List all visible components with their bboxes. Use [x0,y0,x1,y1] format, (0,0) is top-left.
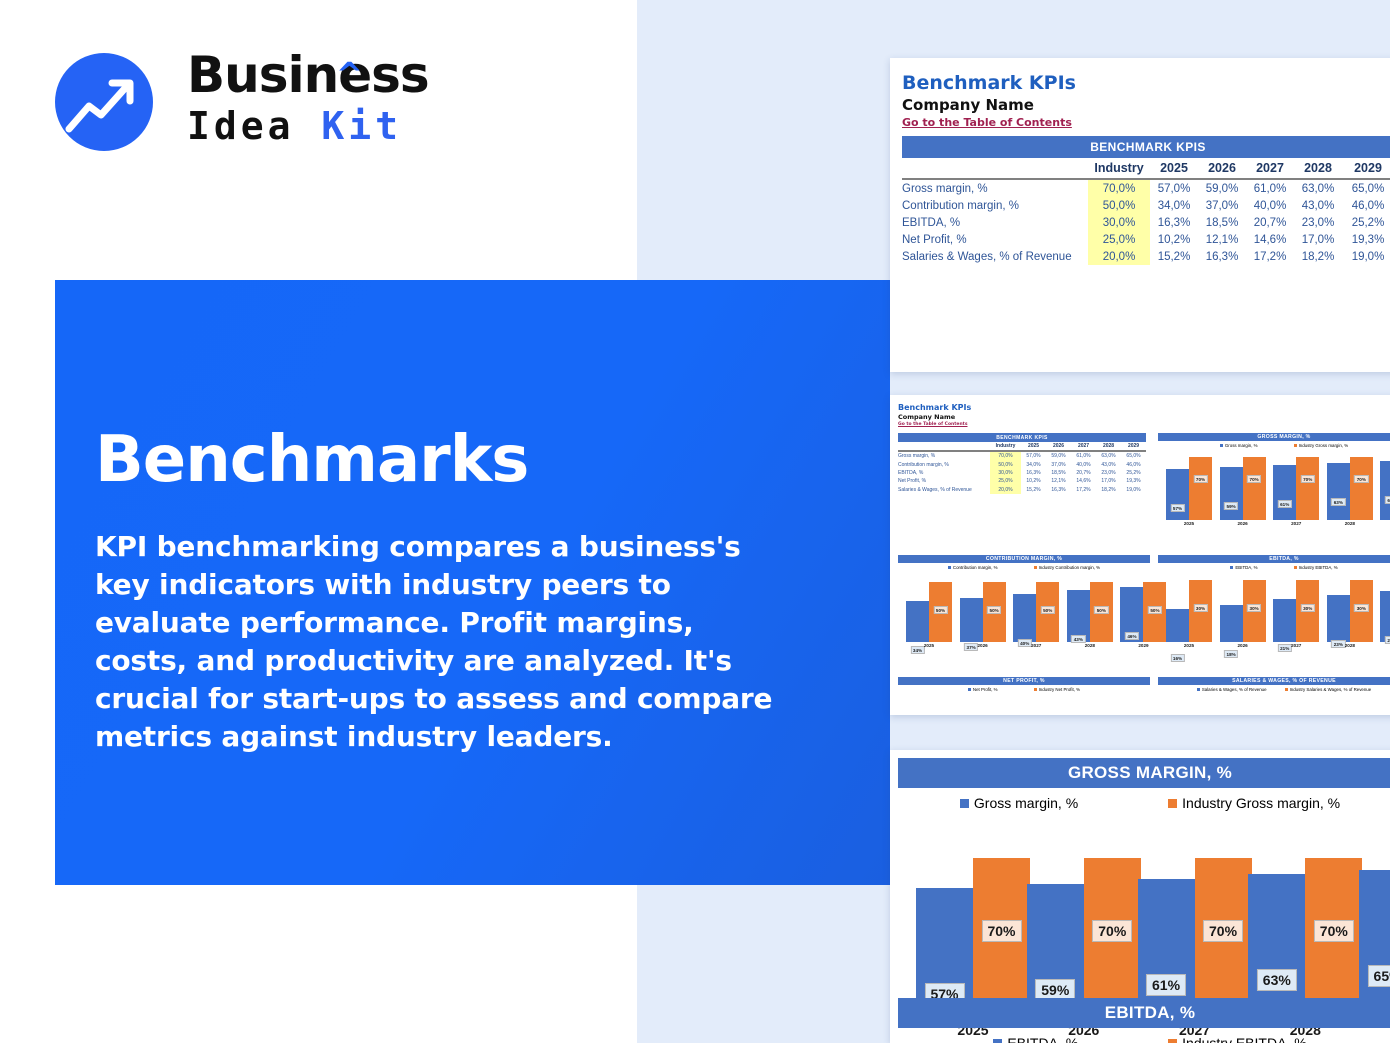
sheet-subheading: Company Name [898,413,971,421]
chart-legend: EBITDA, % Industry EBITDA, % [898,1028,1390,1043]
bar-company[interactable]: 43% [1067,590,1090,642]
row-label: Contribution margin, % [898,460,990,468]
brand-word-idea: Idea [187,104,295,148]
row-label: Salaries & Wages, % of Revenue [898,486,990,494]
x-axis-tick-label: 2025 [906,643,952,648]
legend-item-series-2[interactable]: Industry Gross margin, % [1168,795,1340,811]
row-label: Gross margin, % [902,179,1088,197]
x-axis-tick-label: 2026 [960,643,1006,648]
cell-2027: 14,6% [1071,477,1096,485]
bar-data-label: 46% [1125,632,1139,640]
legend-label: Industry EBITDA, % [1182,1035,1306,1043]
cell-2027: 40,0% [1071,460,1096,468]
legend-item-series-2[interactable]: Industry EBITDA, % [1168,1035,1306,1043]
cell-industry: 30,0% [990,469,1021,477]
bar-data-label: 30% [1247,604,1261,612]
cell-industry: 70,0% [990,451,1021,460]
bar-group: 21%30% [1273,570,1319,642]
chart-legend: Salaries & Wages, % of Revenue Industry … [1158,685,1390,692]
bar-data-label: 70% [1314,920,1354,942]
legend-swatch-blue-icon [1230,566,1233,569]
bar-company[interactable]: 37% [960,598,983,642]
hero-panel: Benchmarks KPI benchmarking compares a b… [55,280,890,885]
legend-swatch-orange-icon [1168,799,1177,808]
col-header-industry: Industry [990,442,1021,451]
bar-company[interactable]: 18% [1220,605,1243,642]
row-label: Salaries & Wages, % of Revenue [902,248,1088,265]
legend-swatch-orange-icon [1285,688,1288,691]
legend-item-series-2[interactable]: Industry Net Profit, % [1034,687,1080,692]
cell-2027: 40,0% [1246,197,1294,214]
col-header-2025: 2025 [1150,158,1198,179]
bar-industry[interactable]: 50% [983,582,1006,642]
chart-title: SALARIES & WAGES, % OF REVENUE [1158,677,1390,685]
cell-industry: 20,0% [1088,248,1150,265]
cell-industry: 70,0% [1088,179,1150,197]
legend-label: Industry Gross margin, % [1182,795,1340,811]
cell-2027: 14,6% [1246,231,1294,248]
chart-contribution-margin-mini[interactable]: CONTRIBUTION MARGIN, % Contribution marg… [898,555,1150,652]
growth-chart-icon [55,53,153,151]
benchmark-kpi-table-mini[interactable]: BENCHMARK KPIS Industry 2025 2026 2027 2… [898,433,1146,494]
chart-title: EBITDA, % [1158,555,1390,563]
cell-2026: 37,0% [1046,460,1071,468]
bar-industry[interactable]: 30% [1350,580,1373,642]
row-label: Net Profit, % [902,231,1088,248]
table-of-contents-link[interactable]: Go to the Table of Contents [898,422,971,427]
chart-ebitda-large-partial[interactable]: EBITDA, % EBITDA, % Industry EBITDA, % [898,998,1390,1043]
cell-2025: 34,0% [1021,460,1046,468]
chart-legend: Gross margin, % Industry Gross margin, % [1158,441,1390,448]
bar-group: 34%50% [906,570,952,642]
legend-label: EBITDA, % [1007,1035,1078,1043]
cell-2029: 19,0% [1342,248,1390,265]
bar-industry[interactable]: 30% [1296,580,1319,642]
table-row[interactable]: Contribution margin, % 50,0% 34,0% 37,0%… [898,460,1146,468]
bar-data-label: 70% [1203,920,1243,942]
bar-industry[interactable]: 70% [1195,858,1252,1020]
cell-2025: 34,0% [1150,197,1198,214]
bar-data-label: 70% [1193,475,1207,483]
cell-2028: 43,0% [1294,197,1342,214]
bar-group: 40%50% [1013,570,1059,642]
bar-group: 63%70% [1248,835,1362,1020]
cell-2028: 23,0% [1096,469,1121,477]
bar-data-label: 16% [1170,654,1184,662]
x-axis-tick-label: 2026 [1220,643,1266,648]
cell-2027: 17,2% [1246,248,1294,265]
bar-group: 43%50% [1067,570,1113,642]
cell-2029: 65,0% [1342,179,1390,197]
table-row[interactable]: Net Profit, % 25,0% 10,2% 12,1% 14,6% 17… [898,477,1146,485]
row-label: Contribution margin, % [902,197,1088,214]
bar-industry[interactable]: 70% [1084,858,1141,1020]
bar-data-label: 63% [1257,969,1297,991]
cell-industry: 20,0% [990,486,1021,494]
cell-2029: 46,0% [1121,460,1146,468]
x-axis-tick-label: 2025 [1166,521,1212,526]
col-header-2029: 2029 [1121,442,1146,451]
legend-item-series-2[interactable]: Industry Salaries & Wages, % of Revenue [1285,687,1372,692]
bar-group: 18%30% [1220,570,1266,642]
cell-2026: 37,0% [1198,197,1246,214]
col-header-2027: 2027 [1246,158,1294,179]
cell-2028: 18,2% [1096,486,1121,494]
x-axis-tick-label: 2026 [1220,521,1266,526]
chart-legend: Gross margin, % Industry Gross margin, % [898,788,1390,811]
bar-data-label: 50% [987,606,1001,614]
legend-item-series-1[interactable]: EBITDA, % [993,1035,1078,1043]
chart-plot-area: 57%70%59%70%61%70%63%70%65%70% [898,835,1390,1020]
cell-2028: 17,0% [1096,477,1121,485]
x-axis-tick-label: 2027 [1273,643,1319,648]
bar-company[interactable]: 46% [1120,587,1143,642]
chart-x-axis: 20252026202720282029 [898,642,1150,652]
table-row[interactable]: Salaries & Wages, % of Revenue 20,0% 15,… [898,486,1146,494]
col-header-2028: 2028 [1294,158,1342,179]
bar-industry[interactable]: 50% [1036,582,1059,642]
col-header-2026: 2026 [1198,158,1246,179]
bar-group: 16%30% [1166,570,1212,642]
bar-industry[interactable]: 30% [1243,580,1266,642]
cell-2026: 12,1% [1046,477,1071,485]
bar-group: 37%50% [960,570,1006,642]
bar-data-label: 61% [1278,500,1292,508]
bar-data-label: 30% [1301,604,1315,612]
chart-net-profit-mini[interactable]: NET PROFIT, % Net Profit, % Industry Net… [898,677,1150,692]
x-axis-tick-label: 2025 [1166,643,1212,648]
col-header-2026: 2026 [1046,442,1071,451]
benchmark-kpi-table[interactable]: BENCHMARK KPIS Industry 2025 2026 2027 2… [902,136,1390,265]
bar-company[interactable]: 63% [1327,463,1350,520]
hero-description: KPI benchmarking compares a business's k… [95,528,775,756]
cell-2025: 10,2% [1021,477,1046,485]
bar-data-label: 70% [1354,475,1368,483]
col-header-0 [902,158,1088,179]
cell-2026: 59,0% [1046,451,1071,460]
legend-item-series-1[interactable]: Gross margin, % [960,795,1078,811]
cell-2027: 61,0% [1071,451,1096,460]
table-row[interactable]: Salaries & Wages, % of Revenue 20,0% 15,… [902,248,1390,265]
cell-2026: 16,3% [1198,248,1246,265]
table-row[interactable]: Net Profit, % 25,0% 10,2% 12,1% 14,6% 17… [902,231,1390,248]
col-header-2028: 2028 [1096,442,1121,451]
cell-2028: 17,0% [1294,231,1342,248]
cell-2026: 12,1% [1198,231,1246,248]
legend-swatch-orange-icon [1168,1039,1177,1043]
bar-data-label: 50% [1041,606,1055,614]
cell-industry: 50,0% [1088,197,1150,214]
table-band-row: BENCHMARK KPIS [902,136,1390,158]
row-label: EBITDA, % [902,214,1088,231]
chart-x-axis: 20252026202720282029 [1158,520,1390,530]
cell-2025: 57,0% [1021,451,1046,460]
bar-company[interactable]: 40% [1013,594,1036,642]
bar-data-label: 50% [933,606,947,614]
bar-data-label: 70% [1301,475,1315,483]
x-axis-tick-label: 2029 [1380,521,1390,526]
cell-2029: 19,0% [1121,486,1146,494]
bar-data-label: 30% [1193,604,1207,612]
cell-2028: 63,0% [1294,179,1342,197]
cell-2025: 15,2% [1021,486,1046,494]
spreadsheet-card-dashboard[interactable]: Benchmark KPIs Company Name Go to the Ta… [890,395,1390,715]
table-header-row: Industry 2025 2026 2027 2028 2029 [898,442,1146,451]
chart-plot-area: 34%50%37%50%40%50%43%50%46%50% [898,570,1150,642]
cell-2026: 59,0% [1198,179,1246,197]
bar-company[interactable]: 34% [906,601,929,642]
cell-2029: 65,0% [1121,451,1146,460]
bar-group: 57%70% [1166,448,1212,520]
bar-industry[interactable]: 70% [1350,457,1373,520]
bar-industry[interactable]: 70% [973,858,1030,1020]
chart-gross-margin-mini[interactable]: GROSS MARGIN, % Gross margin, % Industry… [1158,433,1390,530]
bar-group: 63%70% [1327,448,1373,520]
bar-industry[interactable]: 50% [1090,582,1113,642]
chart-legend: EBITDA, % Industry EBITDA, % [1158,563,1390,570]
bar-industry[interactable]: 50% [929,582,952,642]
x-axis-tick-label: 2029 [1380,643,1390,648]
bar-industry[interactable]: 70% [1243,457,1266,520]
chart-plot-area: 16%30%18%30%21%30%23%30%25%30% [1158,570,1390,642]
spreadsheet-card-gross-margin-chart[interactable]: GROSS MARGIN, % Gross margin, % Industry… [890,750,1390,1043]
bar-data-label: 30% [1354,604,1368,612]
legend-swatch-blue-icon [968,688,971,691]
bar-industry[interactable]: 30% [1189,580,1212,642]
cell-2029: 19,3% [1121,477,1146,485]
chart-legend: Contribution margin, % Industry Contribu… [898,563,1150,570]
chart-ebitda-mini[interactable]: EBITDA, % EBITDA, % Industry EBITDA, % 1… [1158,555,1390,652]
cell-2028: 43,0% [1096,460,1121,468]
legend-swatch-blue-icon [1197,688,1200,691]
chart-title: CONTRIBUTION MARGIN, % [898,555,1150,563]
col-header-2029: 2029 [1342,158,1390,179]
cell-2029: 25,2% [1342,214,1390,231]
legend-swatch-blue-icon [993,1039,1002,1043]
bar-company[interactable]: 21% [1273,599,1296,642]
bar-data-label: 65% [1368,965,1390,987]
cell-2027: 20,7% [1246,214,1294,231]
cell-2029: 25,2% [1121,469,1146,477]
legend-label: Net Profit, % [973,687,998,692]
table-of-contents-link[interactable]: Go to the Table of Contents [902,116,1076,129]
legend-item-series-1[interactable]: Net Profit, % [968,687,998,692]
row-label: EBITDA, % [898,469,990,477]
col-header-industry: Industry [1088,158,1150,179]
bar-data-label: 70% [1092,920,1132,942]
bar-group: 59%70% [1027,835,1141,1020]
cell-2028: 18,2% [1294,248,1342,265]
x-axis-tick-label: 2028 [1067,643,1113,648]
table-row[interactable]: EBITDA, % 30,0% 16,3% 18,5% 20,7% 23,0% … [902,214,1390,231]
cell-2025: 57,0% [1150,179,1198,197]
x-axis-tick-label: 2027 [1273,521,1319,526]
chart-salaries-wages-mini[interactable]: SALARIES & WAGES, % OF REVENUE Salaries … [1158,677,1390,692]
cell-industry: 25,0% [1088,231,1150,248]
brand-name-secondary: Idea Kit [187,103,429,149]
cell-2025: 10,2% [1150,231,1198,248]
cell-industry: 25,0% [990,477,1021,485]
legend-label: Gross margin, % [974,795,1078,811]
legend-label: Industry Net Profit, % [1039,687,1080,692]
legend-swatch-blue-icon [1220,444,1223,447]
cell-2026: 16,3% [1046,486,1071,494]
bar-group: 65%70% [1359,835,1390,1020]
cell-2028: 63,0% [1096,451,1121,460]
sheet-subheading: Company Name [902,96,1076,114]
slide-root: Business ^ Idea Kit Benchmarks KPI bench… [0,0,1390,1043]
spreadsheet-card-kpi-table[interactable]: Benchmark KPIs Company Name Go to the Ta… [890,58,1390,372]
cell-2029: 46,0% [1342,197,1390,214]
legend-label: Industry Salaries & Wages, % of Revenue [1290,687,1372,692]
brand-name-primary: Business ^ [187,47,429,103]
table-band-title: BENCHMARK KPIS [902,136,1390,158]
cell-2026: 18,5% [1198,214,1246,231]
table-row[interactable]: EBITDA, % 30,0% 16,3% 18,5% 20,7% 23,0% … [898,469,1146,477]
bar-group: 25%30% [1380,570,1390,642]
bar-data-label: 59% [1224,502,1238,510]
bar-industry[interactable]: 70% [1296,457,1319,520]
bar-data-label: 57% [1170,504,1184,512]
chart-x-axis: 20252026202720282029 [1158,642,1390,652]
col-header-0 [898,442,990,451]
legend-swatch-orange-icon [1294,566,1297,569]
x-axis-tick-label: 2027 [1013,643,1059,648]
legend-swatch-orange-icon [1034,688,1037,691]
bar-industry[interactable]: 70% [1305,858,1362,1020]
cell-2026: 18,5% [1046,469,1071,477]
brand-word-business: Business [187,46,429,104]
table-row[interactable]: Contribution margin, % 50,0% 34,0% 37,0%… [902,197,1390,214]
cell-industry: 50,0% [990,460,1021,468]
bar-group: 57%70% [916,835,1030,1020]
cell-2025: 15,2% [1150,248,1198,265]
bar-company[interactable]: 23% [1327,595,1350,642]
cell-2027: 20,7% [1071,469,1096,477]
bar-data-label: 70% [1247,475,1261,483]
legend-swatch-blue-icon [960,799,969,808]
bar-company[interactable]: 25% [1380,591,1390,642]
x-axis-tick-label: 2028 [1327,643,1373,648]
cell-2025: 16,3% [1150,214,1198,231]
bar-data-label: 63% [1331,498,1345,506]
col-header-2025: 2025 [1021,442,1046,451]
table-band-row: BENCHMARK KPIS [898,433,1146,442]
legend-swatch-orange-icon [1294,444,1297,447]
cell-2027: 17,2% [1071,486,1096,494]
table-row[interactable]: Gross margin, % 70,0% 57,0% 59,0% 61,0% … [902,179,1390,197]
chart-title: NET PROFIT, % [898,677,1150,685]
cell-industry: 30,0% [1088,214,1150,231]
col-header-2027: 2027 [1071,442,1096,451]
chart-title: EBITDA, % [898,998,1390,1028]
bar-company[interactable]: 65% [1380,461,1390,520]
bar-company[interactable]: 16% [1166,609,1189,642]
bar-group: 65%70% [1380,448,1390,520]
brand-hat-icon: ^ [336,46,362,102]
bar-data-label: 70% [981,920,1021,942]
chart-title: GROSS MARGIN, % [1158,433,1390,441]
row-label: Gross margin, % [898,451,990,460]
sheet-heading: Benchmark KPIs [898,403,971,412]
bar-group: 61%70% [1138,835,1252,1020]
bar-company[interactable]: 57% [1166,469,1189,520]
cell-2028: 23,0% [1294,214,1342,231]
x-axis-tick-label: 2028 [1327,521,1373,526]
table-band-title: BENCHMARK KPIS [898,433,1146,442]
bar-group: 61%70% [1273,448,1319,520]
row-label: Net Profit, % [898,477,990,485]
chart-plot-area: 57%70%59%70%61%70%63%70%65%70% [1158,448,1390,520]
brand-logo: Business ^ Idea Kit [55,47,455,162]
legend-item-series-1[interactable]: Salaries & Wages, % of Revenue [1197,687,1267,692]
table-header-row: Industry 2025 2026 2027 2028 2029 [902,158,1390,179]
bar-data-label: 50% [1094,606,1108,614]
brand-word-kit: Kit [321,104,402,148]
legend-swatch-blue-icon [948,566,951,569]
bar-company[interactable]: 61% [1273,465,1296,520]
table-row[interactable]: Gross margin, % 70,0% 57,0% 59,0% 61,0% … [898,451,1146,460]
bar-data-label: 61% [1146,974,1186,996]
cell-2025: 16,3% [1021,469,1046,477]
page-title: Benchmarks [95,423,528,497]
legend-label: Salaries & Wages, % of Revenue [1202,687,1267,692]
bar-industry[interactable]: 70% [1189,457,1212,520]
cell-2029: 19,3% [1342,231,1390,248]
legend-swatch-orange-icon [1034,566,1037,569]
bar-group: 23%30% [1327,570,1373,642]
bar-data-label: 65% [1385,496,1390,504]
chart-title: GROSS MARGIN, % [898,758,1390,788]
chart-legend: Net Profit, % Industry Net Profit, % [898,685,1150,692]
cell-2027: 61,0% [1246,179,1294,197]
bar-company[interactable]: 59% [1220,467,1243,520]
sheet-heading: Benchmark KPIs [902,72,1076,94]
bar-group: 59%70% [1220,448,1266,520]
